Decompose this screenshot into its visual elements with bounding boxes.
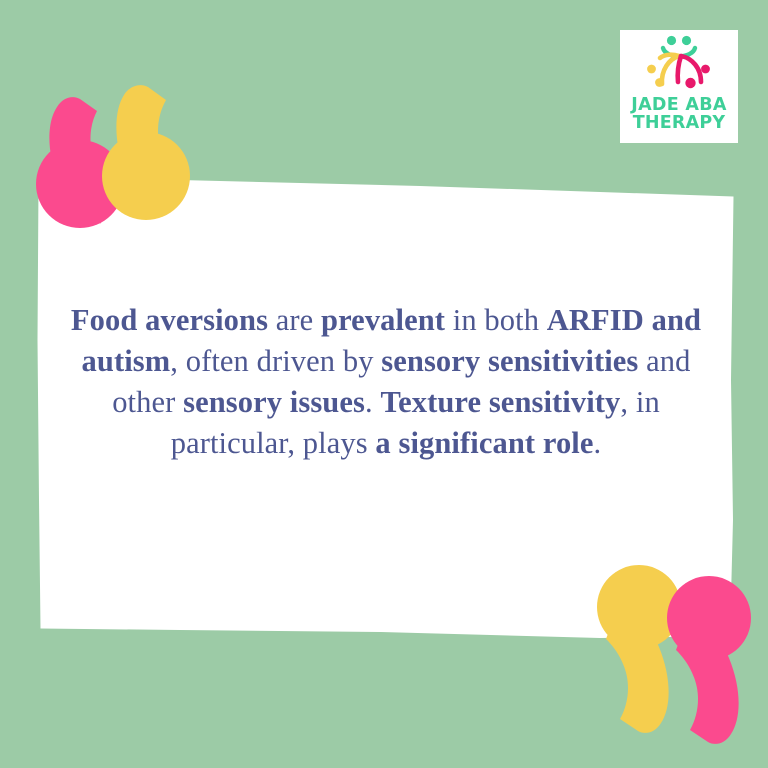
quote-segment: . — [594, 426, 602, 460]
logo-wordmark-line1: JADE ABA — [631, 96, 726, 114]
quote-segment-bold: a significant role — [375, 426, 593, 460]
quote-text: Food aversions are prevalent in both ARF… — [62, 300, 710, 464]
quote-segment-bold: Texture sensitivity — [380, 385, 620, 419]
quote-segment-bold: Food aversions — [71, 303, 268, 337]
quote-segment: . — [365, 385, 380, 419]
quote-segment-bold: sensory sensitivities — [381, 344, 638, 378]
quote-segment: are — [268, 303, 321, 337]
quote-poster: Food aversions are prevalent in both ARF… — [0, 0, 768, 768]
quote-segment: , often driven by — [170, 344, 381, 378]
quote-segment-bold: sensory issues — [183, 385, 365, 419]
quote-segment-bold: prevalent — [321, 303, 445, 337]
three-people-smile-icon — [635, 34, 723, 96]
quote-segment: in both — [445, 303, 547, 337]
logo-wordmark-line2: THERAPY — [633, 114, 725, 132]
brand-logo-badge[interactable]: JADE ABA THERAPY — [620, 30, 738, 143]
